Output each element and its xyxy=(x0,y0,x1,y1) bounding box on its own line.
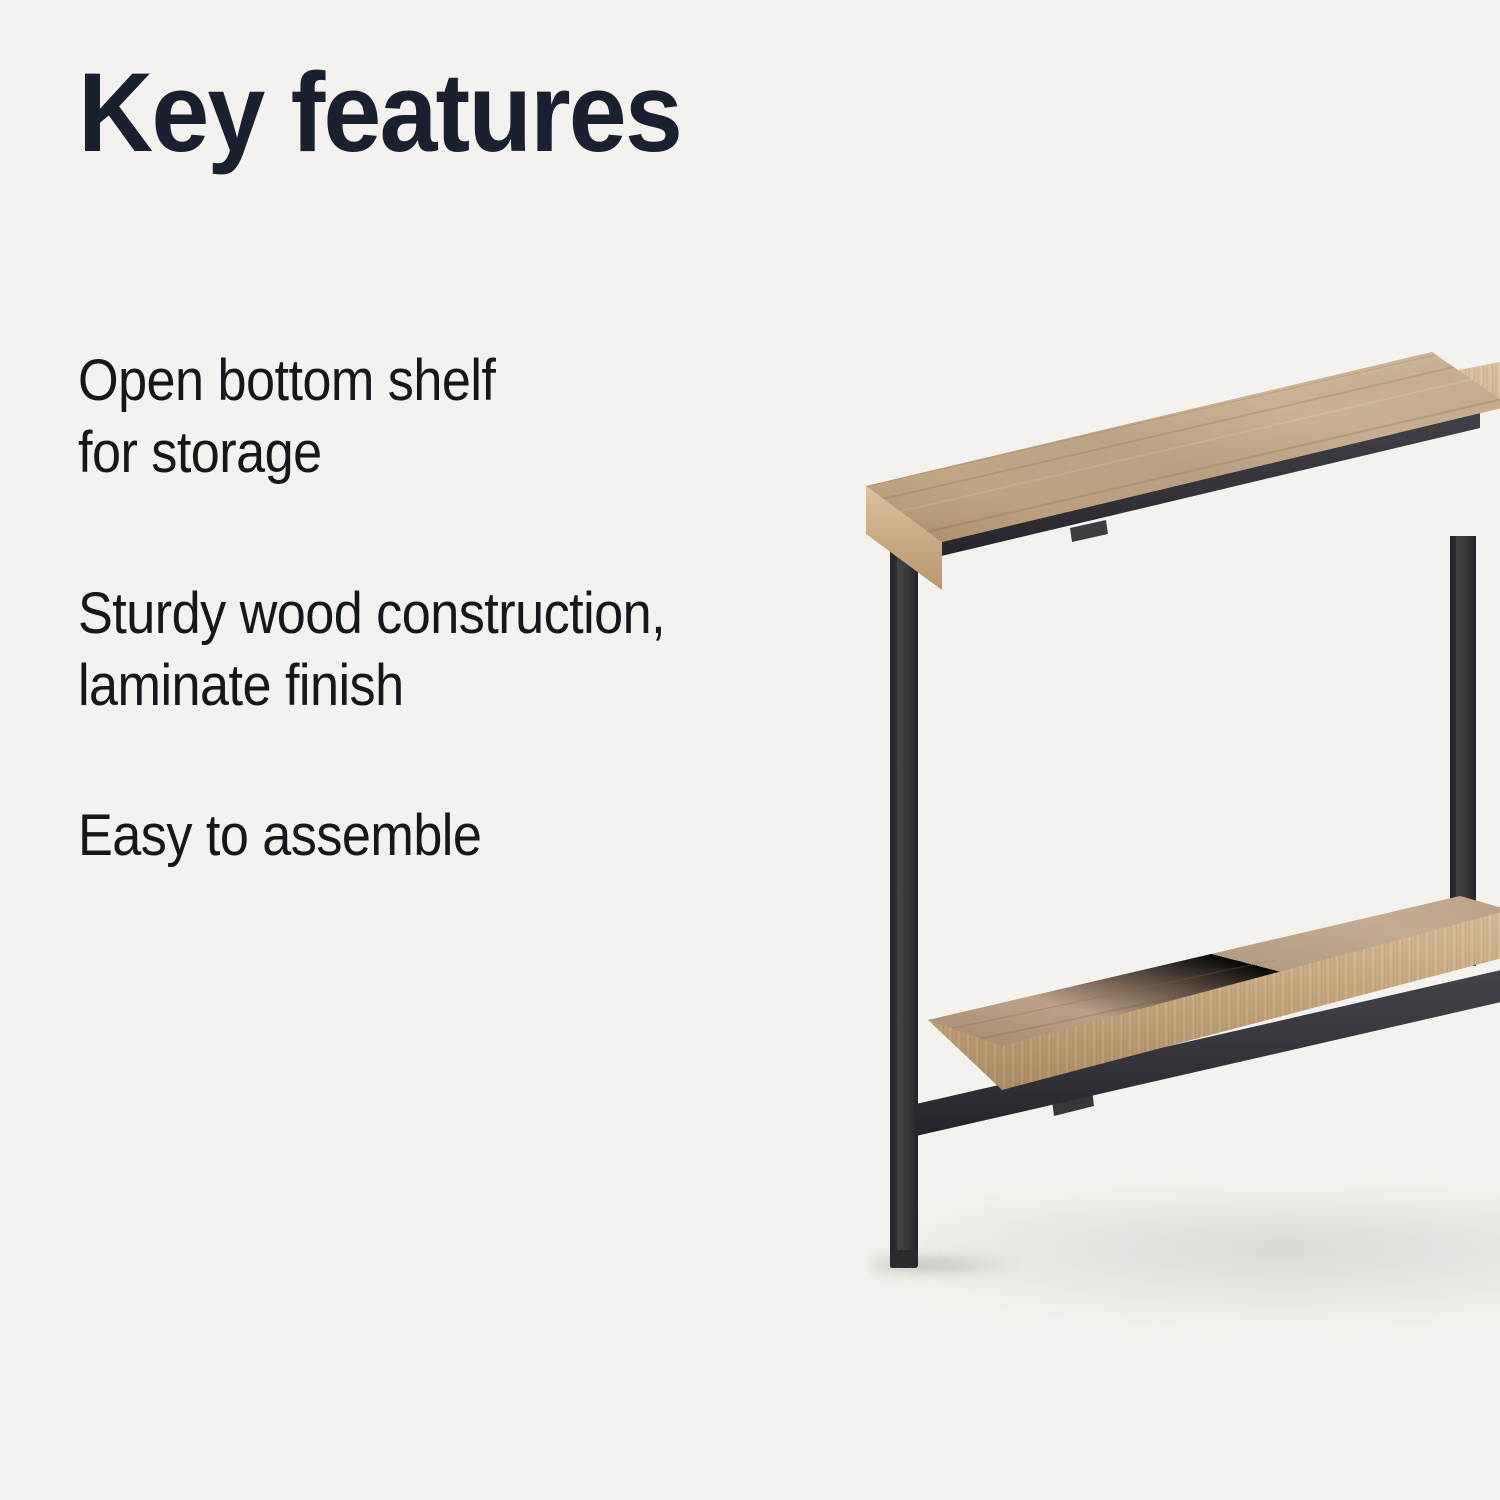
product-photo-coffee-table xyxy=(820,300,1500,1360)
feature-item-sturdy-wood-construction: Sturdy wood construction, laminate finis… xyxy=(78,578,665,722)
feature-item-easy-to-assemble: Easy to assemble xyxy=(78,800,481,872)
coffee-table-illustration xyxy=(820,300,1500,1370)
page-title: Key features xyxy=(78,57,681,169)
front-left-leg xyxy=(890,528,918,1268)
table-top xyxy=(866,352,1500,590)
feature-item-open-bottom-shelf: Open bottom shelf for storage xyxy=(78,345,495,489)
features-text-column: Key features Open bottom shelf for stora… xyxy=(78,0,898,1500)
key-features-infographic: Key features Open bottom shelf for stora… xyxy=(0,0,1500,1500)
